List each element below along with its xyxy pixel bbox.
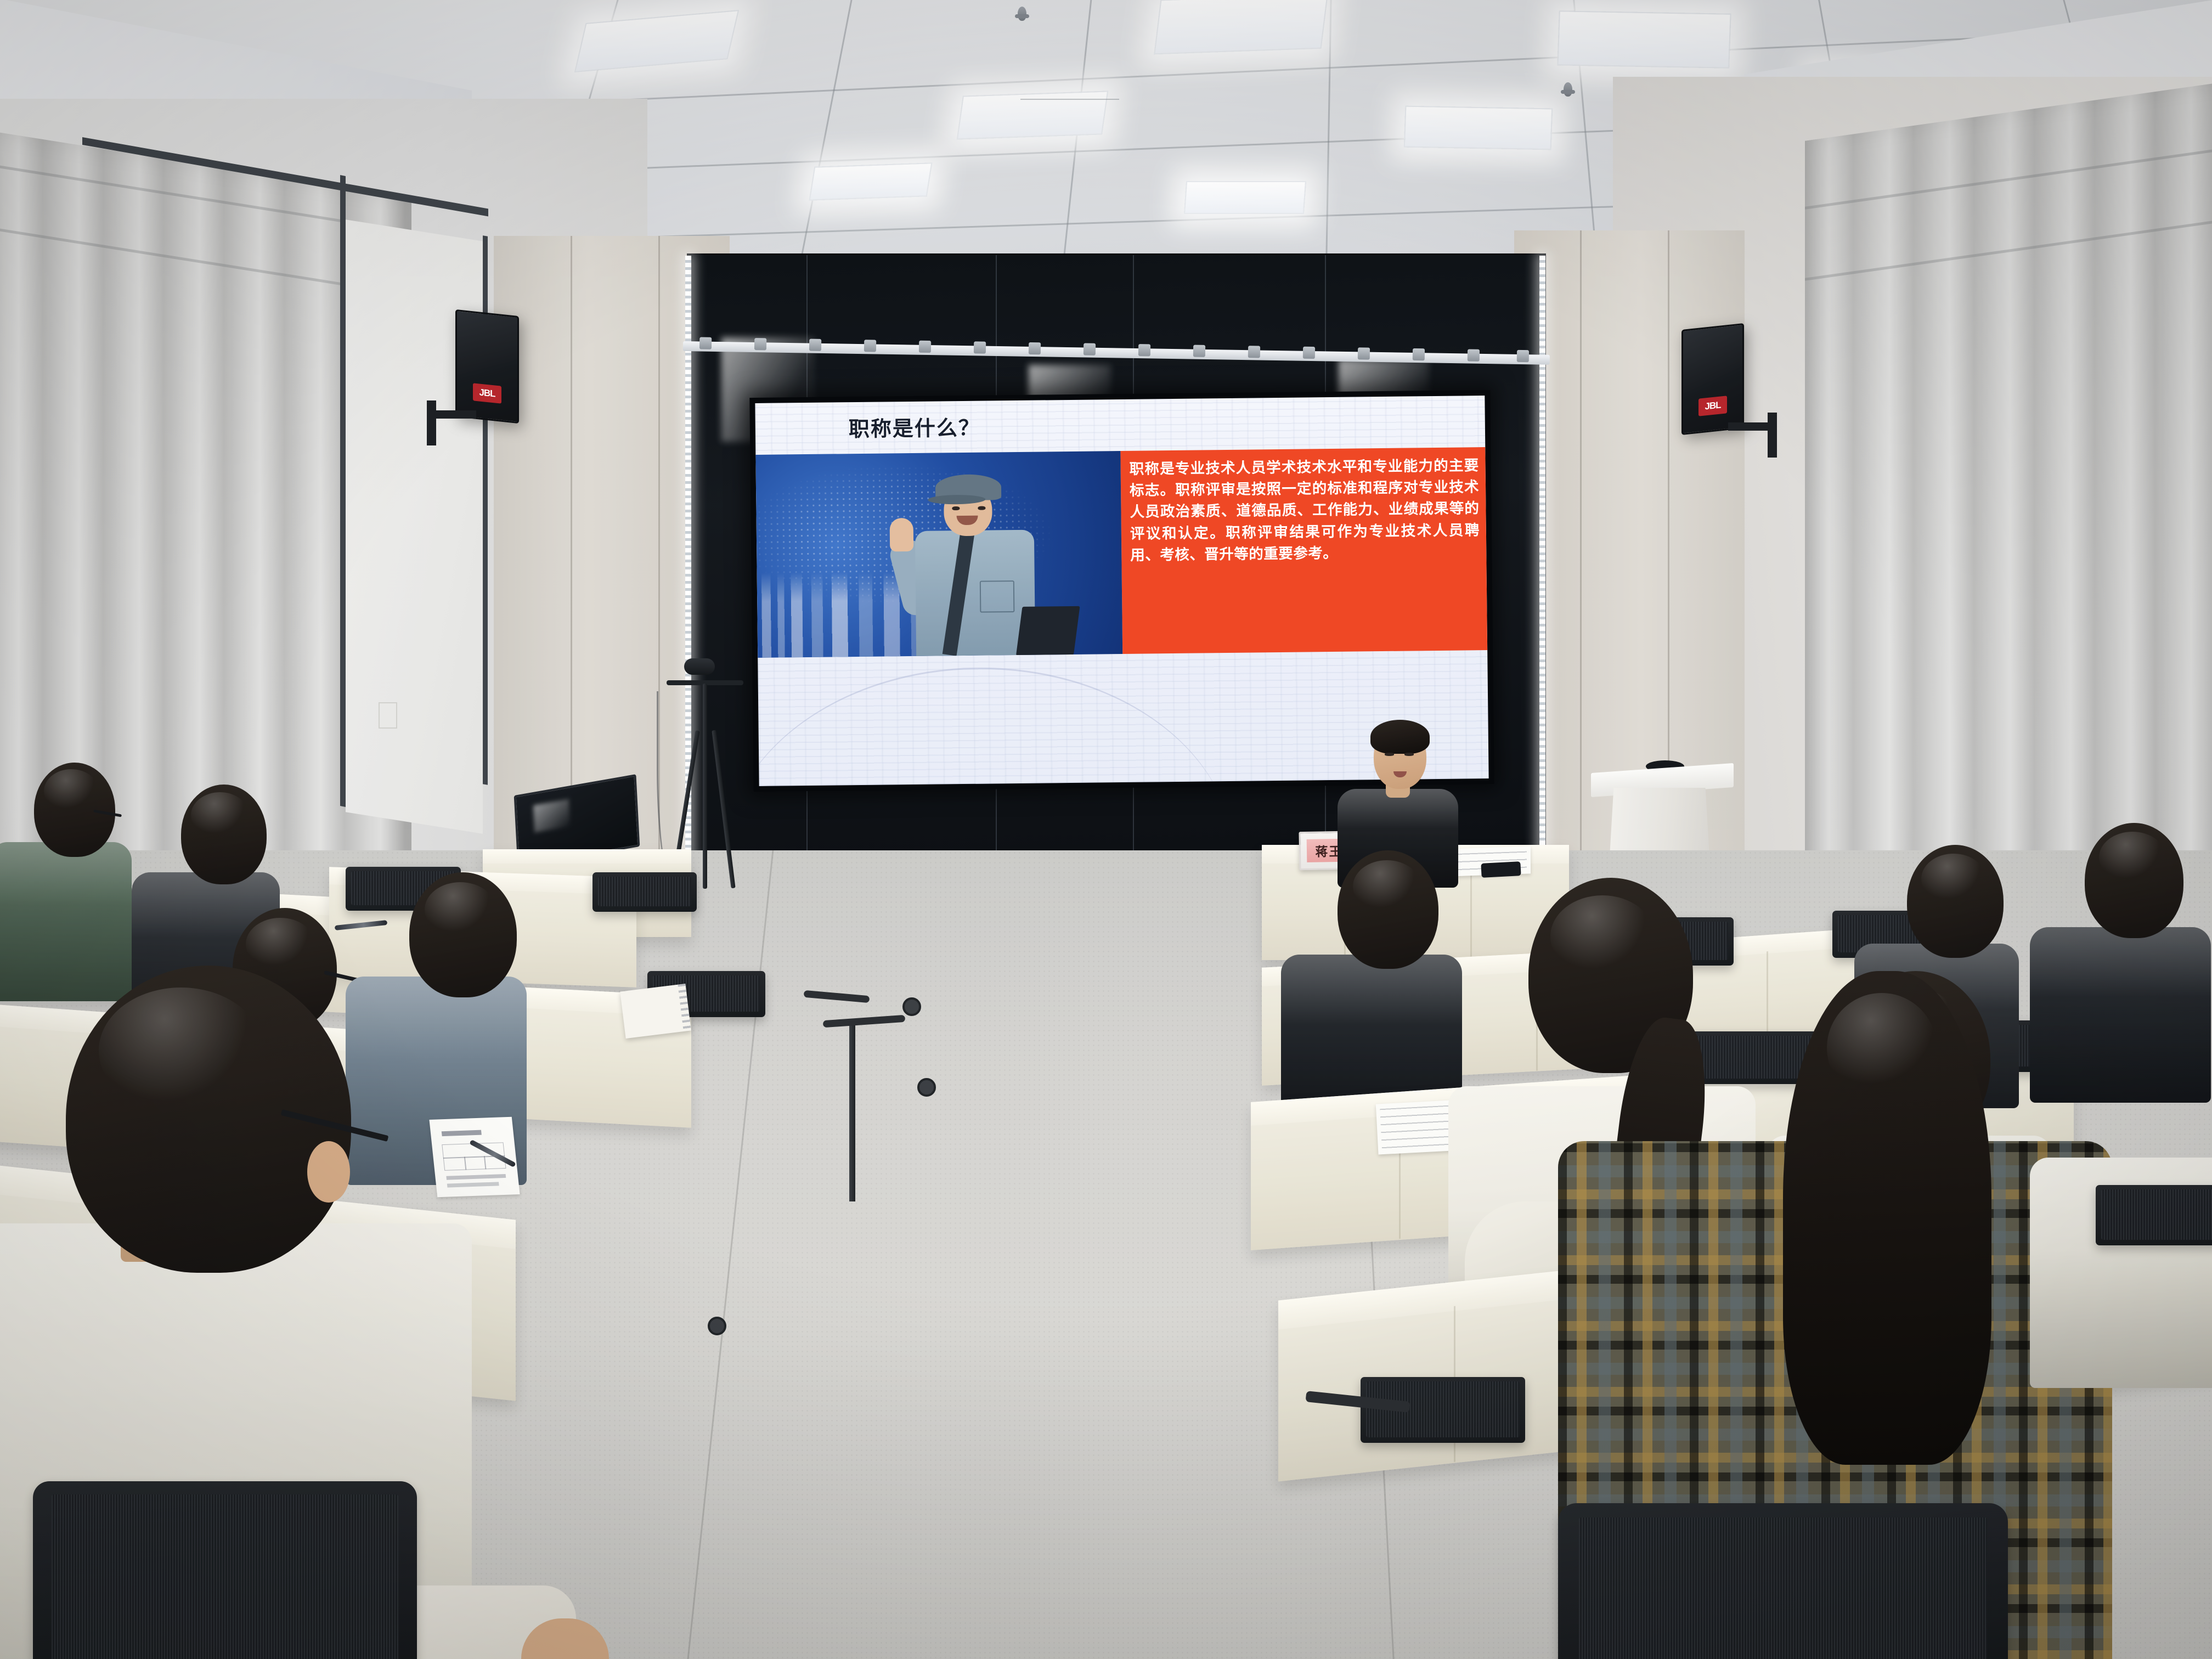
- chair-foreground[interactable]: [33, 1481, 417, 1659]
- jbl-logo: JBL: [473, 383, 501, 403]
- ceiling-light-panel: [574, 10, 739, 72]
- video-camera-icon: [684, 658, 715, 675]
- chair[interactable]: [2096, 1185, 2212, 1245]
- chair-foreground[interactable]: [1558, 1503, 2008, 1659]
- slide-text-panel: 职称是专业技术人员学术技术水平和专业能力的主要标志。职称评审是按照一定的标准和程…: [1120, 447, 1487, 654]
- worker-pocket: [980, 580, 1014, 613]
- slide-illustration: [755, 451, 1122, 658]
- worker-laptop: [1016, 606, 1080, 655]
- wall-speaker-right: JBL: [1681, 323, 1744, 435]
- sprinkler-icon: [1564, 82, 1572, 97]
- chair[interactable]: [592, 872, 697, 912]
- training-room-photo: 职称是什么？: [0, 0, 2212, 1659]
- worker-body: [915, 530, 1035, 656]
- chair-post: [849, 1020, 855, 1201]
- wall-speaker-left: JBL: [455, 309, 519, 424]
- ceiling-light-panel: [1154, 0, 1328, 54]
- ceiling-light-panel: [957, 91, 1109, 139]
- slide-title: 职称是什么？: [849, 411, 981, 443]
- presenter-phone[interactable]: [1481, 861, 1521, 878]
- thumbs-up-icon: [889, 518, 914, 552]
- ceiling-air-vent: [1020, 99, 1119, 100]
- desk-caster: [917, 1078, 936, 1097]
- led-strip-right: [1539, 256, 1545, 887]
- worker-eye: [952, 506, 960, 511]
- window-mullion: [340, 175, 346, 807]
- presenter-eye: [1404, 753, 1414, 756]
- ear: [307, 1141, 350, 1203]
- desk-caster: [902, 997, 921, 1016]
- presenter-hair: [1370, 720, 1430, 754]
- chair-caster: [708, 1317, 726, 1335]
- ceiling-light-panel: [1184, 181, 1306, 214]
- ceiling-light-panel: [1557, 10, 1731, 68]
- ceiling-light-panel: [1404, 106, 1553, 150]
- attendee-torso: [0, 842, 132, 1001]
- worker-eye: [978, 506, 986, 510]
- notebook[interactable]: [620, 984, 691, 1039]
- jbl-logo: JBL: [1699, 396, 1727, 416]
- ceiling-light-panel: [809, 162, 932, 200]
- sprinkler-icon: [1018, 7, 1026, 21]
- wall-outlet-plate: [379, 702, 397, 729]
- presenter-eye: [1385, 753, 1394, 756]
- speaker-bracket-left-post: [427, 400, 436, 445]
- speaker-bracket-right-post: [1768, 413, 1777, 458]
- worker-illustration: [902, 468, 1064, 656]
- slide-body: 职称是专业技术人员学术技术水平和专业能力的主要标志。职称评审是按照一定的标准和程…: [755, 447, 1487, 658]
